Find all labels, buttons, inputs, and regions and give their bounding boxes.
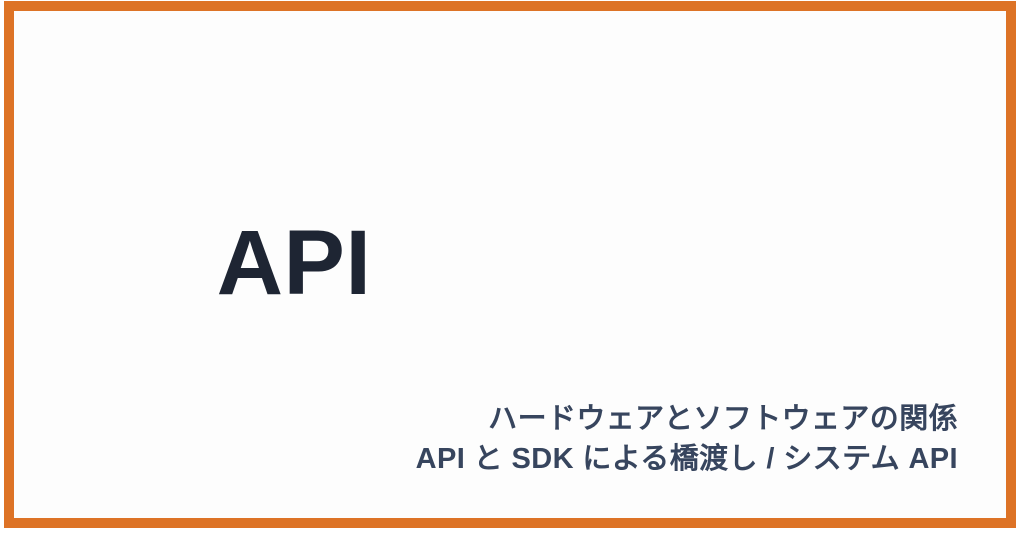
slide-root: API ハードウェアとソフトウェアの関係 API と SDK による橋渡し / … xyxy=(0,0,1024,538)
page-title: API xyxy=(14,217,574,309)
slide-orange-frame: API ハードウェアとソフトウェアの関係 API と SDK による橋渡し / … xyxy=(4,1,1016,528)
subtitle-line-1: ハードウェアとソフトウェアの関係 xyxy=(14,399,958,439)
title-block: API ハードウェアとソフトウェアの関係 API と SDK による橋渡し / … xyxy=(14,11,958,518)
slide-canvas: API ハードウェアとソフトウェアの関係 API と SDK による橋渡し / … xyxy=(14,11,1006,518)
subtitle-line-2: API と SDK による橋渡し / システム API xyxy=(14,439,958,479)
subtitle-block: ハードウェアとソフトウェアの関係 API と SDK による橋渡し / システム… xyxy=(14,399,958,479)
